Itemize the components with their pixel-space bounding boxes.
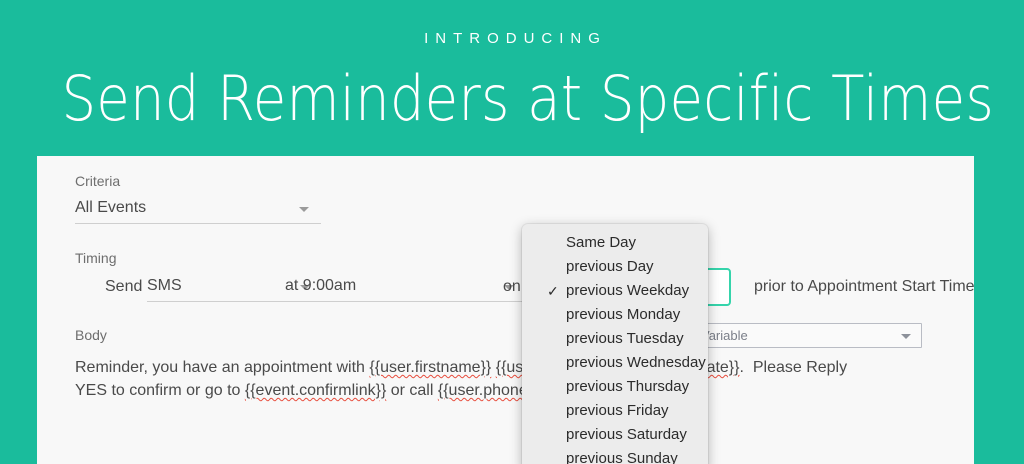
hero-banner: INTRODUCING Send Reminders at Specific T… [0,0,1024,156]
menu-item[interactable]: previous Tuesday [522,327,708,351]
body-text-segment: or call [386,382,438,399]
send-word-label: Send [105,278,142,296]
time-value: at 9:00am [285,277,356,295]
menu-item-label: previous Day [566,258,654,275]
menu-item-label: previous Sunday [566,450,678,464]
time-select[interactable]: at 9:00am [285,274,523,302]
body-text-segment: YES to confirm or go to [75,382,245,399]
hero-title: Send Reminders at Specific Times [61,62,962,136]
menu-item-label: Same Day [566,234,636,251]
body-text-segment: . Please Reply [740,359,848,376]
insert-variable-value: Variable [701,328,748,343]
criteria-select[interactable]: All Events [75,196,321,224]
check-icon: ✓ [547,279,559,303]
menu-item-label: previous Weekday [566,282,689,299]
timing-suffix-label: prior to Appointment Start Time [754,278,974,296]
insert-variable-select[interactable]: Variable [692,323,922,348]
weekday-options-menu[interactable]: Same Dayprevious Day✓previous Weekdaypre… [522,224,708,464]
menu-item[interactable]: ✓previous Weekday [522,279,708,303]
menu-item-label: previous Thursday [566,378,689,395]
menu-item[interactable]: previous Sunday [522,447,708,464]
menu-item[interactable]: previous Day [522,255,708,279]
body-label: Body [75,327,107,343]
on-word-label: on [503,278,521,296]
timing-label: Timing [75,250,117,266]
menu-item-label: previous Wednesday [566,354,706,371]
menu-item[interactable]: previous Wednesday [522,351,708,375]
menu-item[interactable]: previous Monday [522,303,708,327]
menu-item-label: previous Saturday [566,426,687,443]
menu-item-label: previous Friday [566,402,669,419]
body-variable-token: {{user.firstname}} [369,359,491,376]
menu-item[interactable]: Same Day [522,231,708,255]
body-textarea[interactable]: Reminder, you have an appointment with {… [75,356,945,402]
chevron-down-icon [901,334,911,339]
body-variable-token: {{event.confirmlink}} [245,382,386,399]
app-screenshot-panel: Criteria All Events Timing Send SMS at 9… [37,156,974,464]
menu-item[interactable]: previous Saturday [522,423,708,447]
criteria-value: All Events [75,199,146,217]
channel-value: SMS [147,277,182,295]
menu-item-label: previous Tuesday [566,330,684,347]
chevron-down-icon [299,207,309,212]
menu-item[interactable]: previous Friday [522,399,708,423]
menu-item[interactable]: previous Thursday [522,375,708,399]
menu-item-label: previous Monday [566,306,680,323]
body-text-segment: Reminder, you have an appointment with [75,359,369,376]
hero-eyebrow: INTRODUCING [0,30,1024,47]
criteria-label: Criteria [75,173,120,189]
